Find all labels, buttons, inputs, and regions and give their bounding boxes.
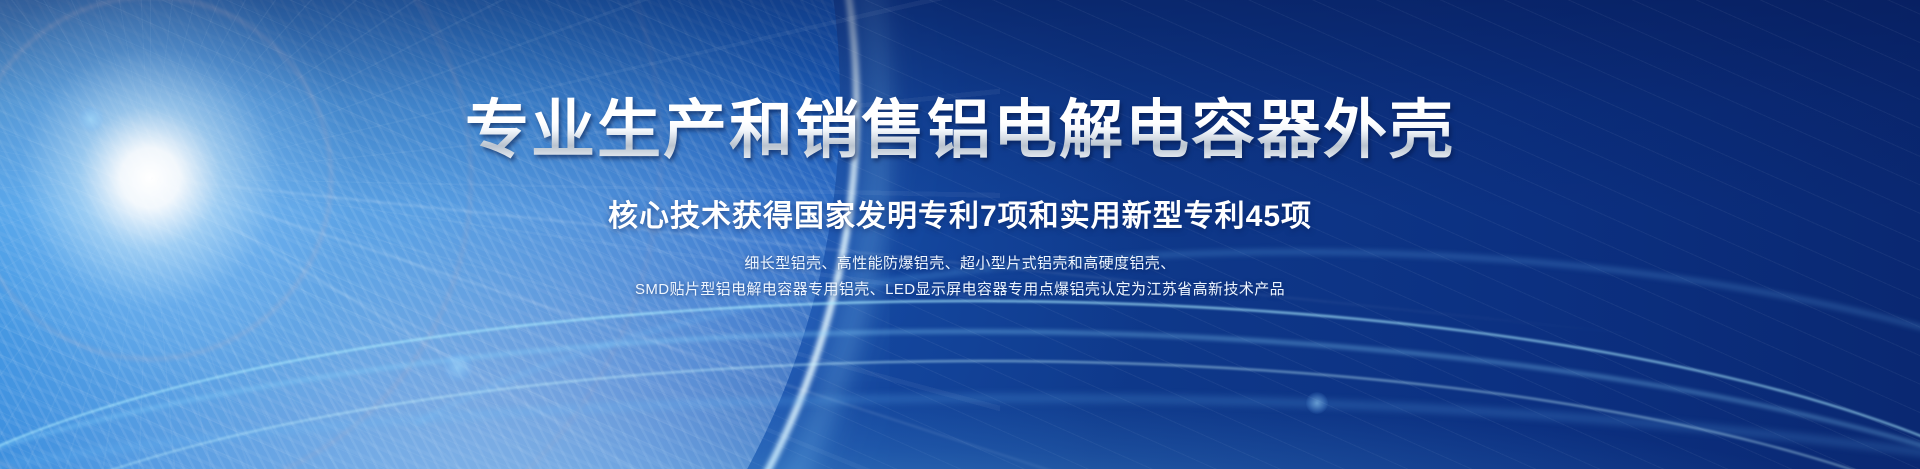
- hero-banner: 专业生产和销售铝电解电容器外壳 核心技术获得国家发明专利7项和实用新型专利45项…: [0, 0, 1920, 469]
